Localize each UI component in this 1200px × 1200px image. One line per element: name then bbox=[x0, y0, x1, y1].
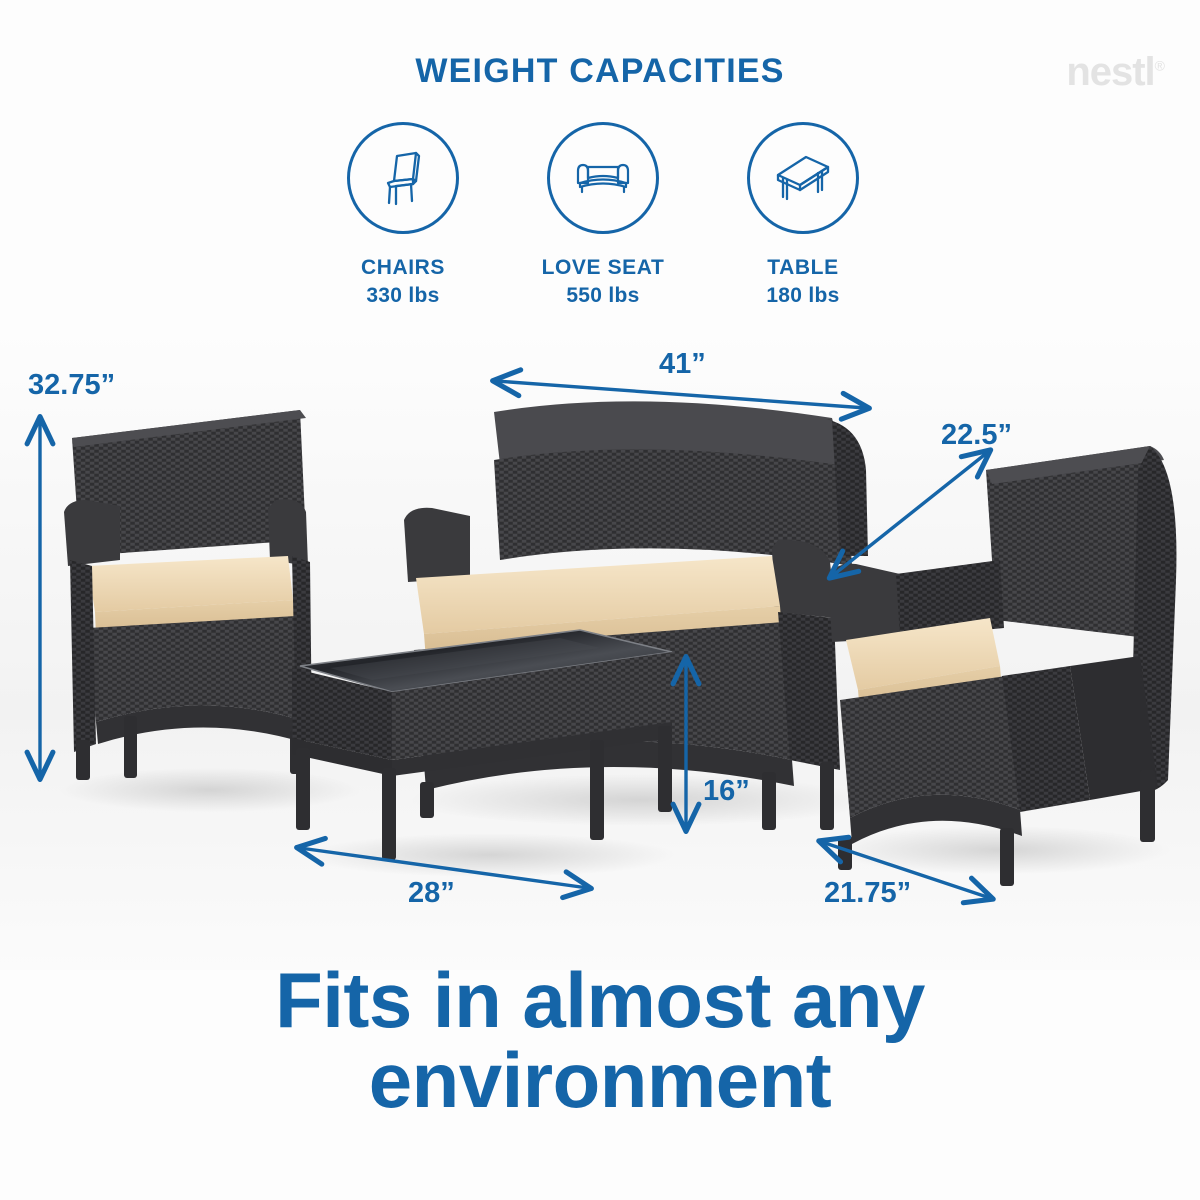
capacity-value: 330 lbs bbox=[318, 284, 488, 308]
loveseat-icon-circle bbox=[547, 122, 659, 234]
dimension-label-table-width: 28” bbox=[408, 877, 455, 910]
table-icon-circle bbox=[747, 122, 859, 234]
capacity-item-chairs: CHAIRS 330 lbs bbox=[318, 122, 488, 308]
loveseat-icon bbox=[570, 145, 636, 211]
footer-headline: Fits in almost any environment bbox=[0, 960, 1200, 1121]
weight-capacity-list: CHAIRS 330 lbs bbox=[318, 122, 888, 308]
chair-icon-circle bbox=[347, 122, 459, 234]
capacity-label: LOVE SEAT bbox=[518, 256, 688, 280]
dimension-label-chair-height: 32.75” bbox=[28, 369, 115, 402]
infographic-canvas: nestl® WEIGHT CAPACITIES bbox=[0, 0, 1200, 1200]
capacity-label: TABLE bbox=[718, 256, 888, 280]
capacity-item-table: TABLE 180 lbs bbox=[718, 122, 888, 308]
headline-line-1: Fits in almost any bbox=[0, 960, 1200, 1040]
dimension-label-loveseat-width: 41” bbox=[659, 348, 706, 381]
table-icon bbox=[772, 147, 834, 209]
headline-line-2: environment bbox=[0, 1040, 1200, 1120]
chair-icon bbox=[372, 147, 434, 209]
capacity-value: 180 lbs bbox=[718, 284, 888, 308]
capacity-label: CHAIRS bbox=[318, 256, 488, 280]
dimension-label-chair-width: 21.75” bbox=[824, 877, 911, 910]
dimension-label-chair-depth: 22.5” bbox=[941, 419, 1012, 452]
page-title: WEIGHT CAPACITIES bbox=[0, 52, 1200, 91]
capacity-value: 550 lbs bbox=[518, 284, 688, 308]
capacity-item-love-seat: LOVE SEAT 550 lbs bbox=[518, 122, 688, 308]
dimension-label-table-height: 16” bbox=[703, 775, 750, 808]
